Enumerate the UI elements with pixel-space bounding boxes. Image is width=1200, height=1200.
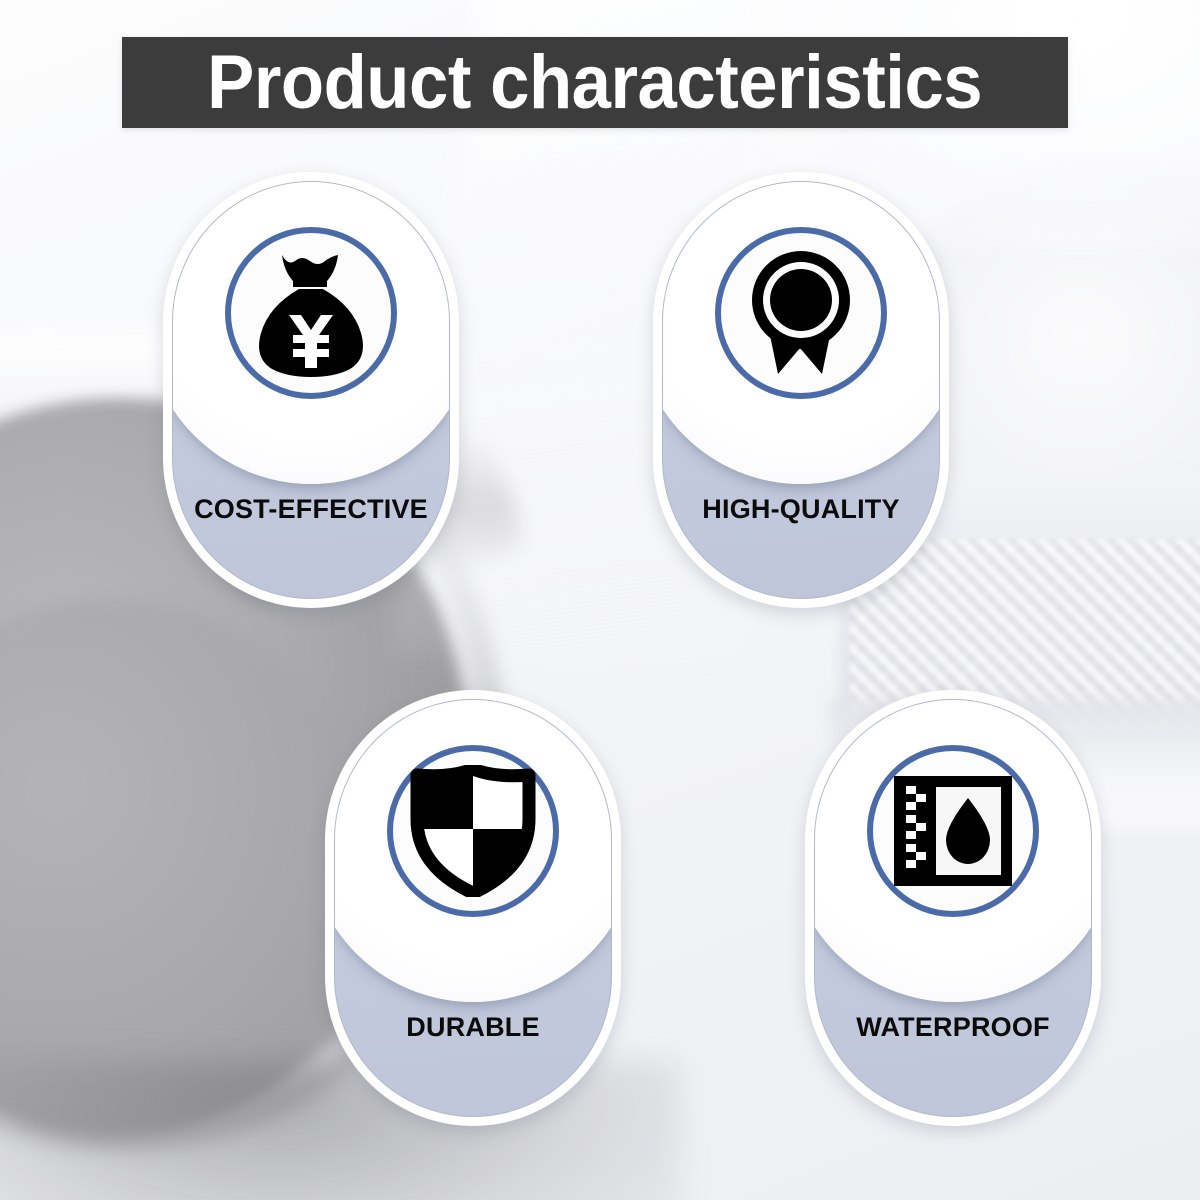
- waterproof-fabric-droplet-icon: [867, 745, 1039, 917]
- feature-card-label: HIGH-QUALITY: [663, 494, 939, 525]
- feature-card-body: COST-EFFECTIVE: [172, 181, 450, 599]
- product-characteristics-infographic: Product characteristics COST-EFFECTIVE: [0, 0, 1200, 1200]
- feature-card-cost-effective[interactable]: COST-EFFECTIVE: [163, 172, 459, 608]
- feature-card-label: WATERPROOF: [815, 1012, 1091, 1043]
- money-bag-yen-icon: [225, 227, 397, 399]
- feature-card-durable[interactable]: DURABLE: [325, 690, 621, 1126]
- feature-card-waterproof[interactable]: WATERPROOF: [805, 690, 1101, 1126]
- feature-card-high-quality[interactable]: HIGH-QUALITY: [653, 172, 949, 608]
- quartered-shield-icon: [387, 745, 559, 917]
- feature-card-label: DURABLE: [335, 1012, 611, 1043]
- feature-card-label: COST-EFFECTIVE: [173, 494, 449, 525]
- award-rosette-ribbon-icon: [715, 227, 887, 399]
- feature-card-body: DURABLE: [334, 699, 612, 1117]
- page-title: Product characteristics: [208, 45, 983, 121]
- feature-card-body: WATERPROOF: [814, 699, 1092, 1117]
- title-banner: Product characteristics: [122, 37, 1068, 128]
- feature-card-body: HIGH-QUALITY: [662, 181, 940, 599]
